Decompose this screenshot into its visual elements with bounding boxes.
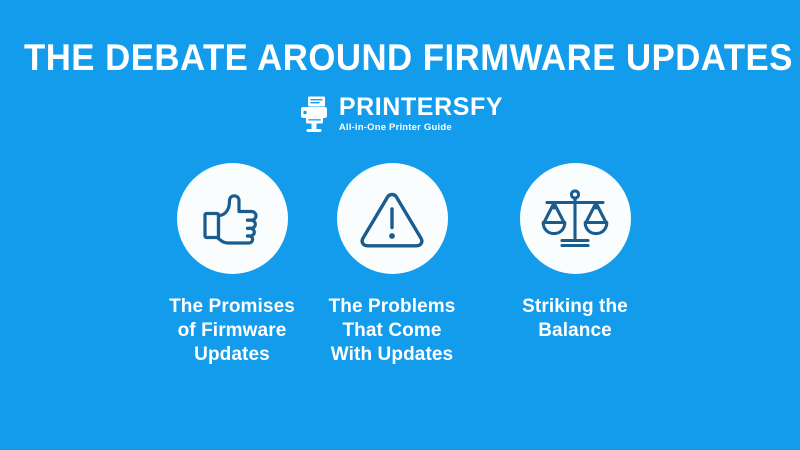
page-title: THE DEBATE AROUND FIRMWARE UPDATES	[24, 38, 776, 78]
warning-triangle-icon	[359, 188, 425, 250]
concept-column-promises: The Promises of Firmware Updates	[144, 163, 320, 367]
concept-caption-balance: Striking the Balance	[522, 295, 628, 343]
logo-text-block: PRINTERSFY All-in-One Printer Guide	[339, 95, 503, 134]
printer-icon	[297, 96, 331, 132]
concept-column-balance: Striking the Balance	[487, 163, 663, 343]
logo-tagline: All-in-One Printer Guide	[339, 122, 452, 134]
concept-column-problems: The Problems That Come With Updates	[304, 163, 480, 367]
icon-circle-promises	[177, 163, 288, 274]
concept-caption-promises: The Promises of Firmware Updates	[169, 295, 295, 367]
brand-logo: PRINTERSFY All-in-One Printer Guide	[0, 93, 800, 135]
infographic-canvas: THE DEBATE AROUND FIRMWARE UPDATES PRINT…	[0, 0, 800, 450]
thumbs-up-icon	[198, 185, 266, 253]
concept-caption-problems: The Problems That Come With Updates	[329, 295, 456, 367]
logo-wordmark: PRINTERSFY	[339, 95, 503, 120]
balance-scales-icon	[540, 187, 610, 251]
concept-columns: The Promises of Firmware Updates The Pro…	[0, 163, 800, 363]
icon-circle-problems	[337, 163, 448, 274]
icon-circle-balance	[520, 163, 631, 274]
